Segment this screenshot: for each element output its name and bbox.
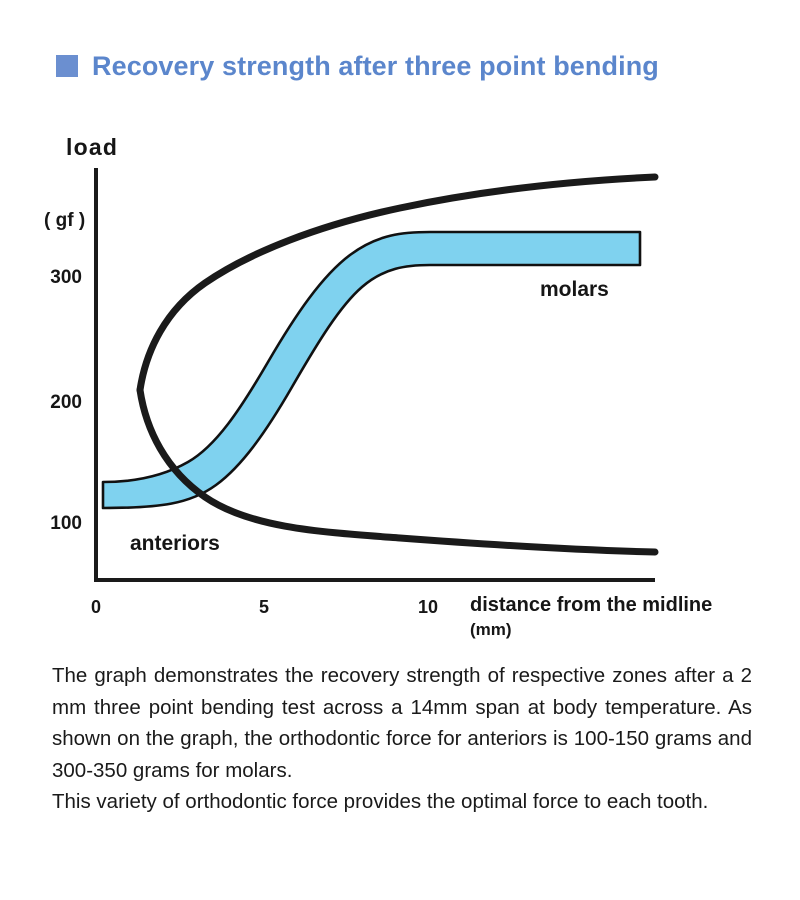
x-tick-label-10: 10 bbox=[408, 597, 448, 618]
caption-paragraph-1: The graph demonstrates the recovery stre… bbox=[52, 660, 752, 786]
x-axis-title: distance from the midline bbox=[470, 594, 712, 617]
series-label-molars: molars bbox=[540, 278, 609, 302]
title-square-marker-icon bbox=[56, 55, 78, 77]
figure-caption: The graph demonstrates the recovery stre… bbox=[52, 660, 752, 818]
y-tick-label-100: 100 bbox=[30, 513, 82, 535]
y-axis-units: ( gf ) bbox=[44, 210, 85, 232]
recovery-strength-band bbox=[103, 232, 640, 508]
y-axis-title: load bbox=[66, 134, 118, 161]
page-title: Recovery strength after three point bend… bbox=[92, 51, 659, 82]
chart-figure: load ( gf ) 300 200 100 0 5 10 distance … bbox=[0, 110, 800, 650]
x-tick-label-0: 0 bbox=[76, 597, 116, 618]
y-tick-label-200: 200 bbox=[30, 392, 82, 414]
series-label-anteriors: anteriors bbox=[130, 532, 220, 556]
caption-paragraph-2: This variety of orthodontic force provid… bbox=[52, 786, 752, 818]
x-tick-label-5: 5 bbox=[244, 597, 284, 618]
chart-plot-area bbox=[0, 110, 800, 650]
figure-title-bar: Recovery strength after three point bend… bbox=[0, 42, 800, 90]
y-tick-label-300: 300 bbox=[30, 267, 82, 289]
x-axis-units: (mm) bbox=[470, 620, 512, 640]
